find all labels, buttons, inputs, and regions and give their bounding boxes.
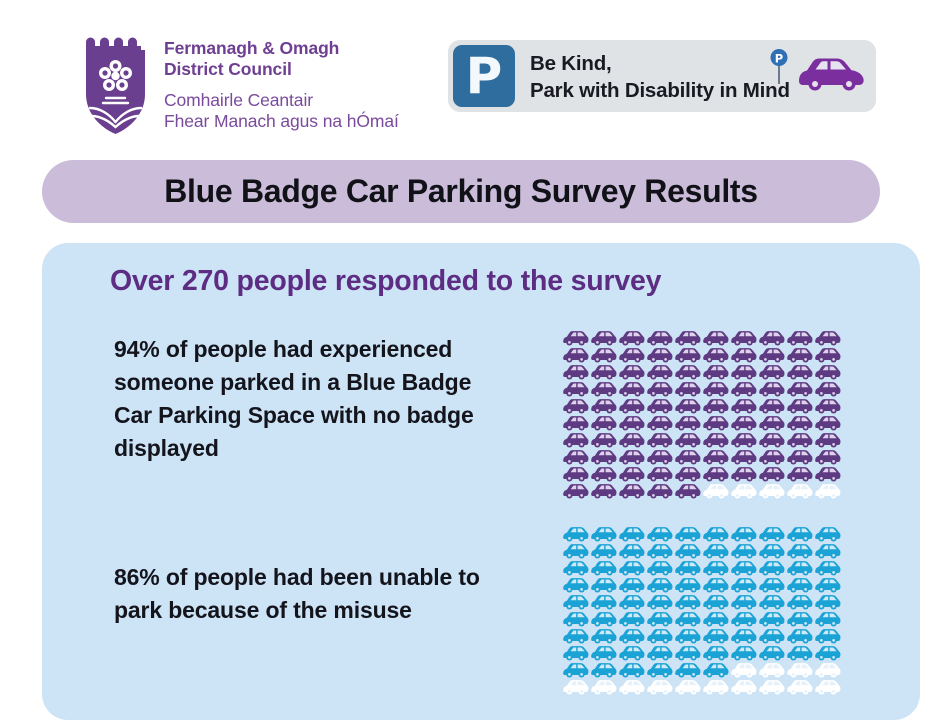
car-icon-filled	[813, 525, 841, 542]
car-icon	[645, 661, 673, 678]
car-icon	[617, 559, 645, 576]
car-icon	[813, 678, 841, 695]
car-icon	[617, 644, 645, 661]
car-icon-filled	[785, 346, 813, 363]
car-icon-filled	[645, 329, 673, 346]
car-icon	[589, 542, 617, 559]
car-icon	[785, 644, 813, 661]
car-icon	[561, 431, 589, 448]
car-icon	[813, 610, 841, 627]
car-icon	[673, 431, 701, 448]
car-icon-filled	[617, 644, 645, 661]
car-icon-filled	[757, 644, 785, 661]
car-icon-filled	[673, 644, 701, 661]
car-icon-filled	[617, 482, 645, 499]
car-icon-filled	[589, 482, 617, 499]
car-icon	[589, 610, 617, 627]
car-icon	[617, 610, 645, 627]
car-icon-filled	[813, 431, 841, 448]
car-icon	[673, 465, 701, 482]
car-icon-filled	[561, 661, 589, 678]
car-icon-filled	[673, 397, 701, 414]
car-icon-filled	[813, 542, 841, 559]
car-icon-filled	[813, 593, 841, 610]
car-icon-filled	[813, 627, 841, 644]
car-icon	[701, 380, 729, 397]
car-icon-empty	[729, 678, 757, 695]
car-icon	[617, 363, 645, 380]
car-icon-empty	[785, 482, 813, 499]
car-icon	[673, 329, 701, 346]
car-icon	[561, 678, 589, 695]
council-logo-text: Fermanagh & Omagh District Council Comha…	[164, 32, 399, 132]
car-icon-filled	[589, 559, 617, 576]
car-icon-empty	[729, 482, 757, 499]
car-icon	[729, 678, 757, 695]
car-icon-filled	[785, 448, 813, 465]
car-icon-filled	[617, 448, 645, 465]
car-icon-filled	[617, 559, 645, 576]
car-icon	[785, 397, 813, 414]
car-icon	[645, 678, 673, 695]
car-icon	[701, 644, 729, 661]
car-icon-filled	[645, 661, 673, 678]
car-icon-filled	[813, 397, 841, 414]
car-icon	[813, 593, 841, 610]
car-icon	[645, 559, 673, 576]
car-icon	[785, 627, 813, 644]
car-icon-empty	[813, 661, 841, 678]
car-icon-empty	[589, 678, 617, 695]
car-icon	[617, 465, 645, 482]
car-icon	[617, 380, 645, 397]
car-icon-filled	[673, 329, 701, 346]
car-icon-filled	[813, 465, 841, 482]
car-icon-filled	[729, 610, 757, 627]
car-icon-filled	[757, 593, 785, 610]
car-icon-filled	[701, 414, 729, 431]
car-icon	[701, 397, 729, 414]
car-icon	[701, 414, 729, 431]
car-icon	[673, 576, 701, 593]
logo-spacer	[164, 81, 399, 90]
logo-line-ga-1: Comhairle Ceantair	[164, 90, 399, 111]
parking-p-letter: P	[466, 51, 503, 101]
car-icon-filled	[729, 363, 757, 380]
car-icon-filled	[617, 397, 645, 414]
car-icon-filled	[673, 465, 701, 482]
car-icon-filled	[561, 525, 589, 542]
car-icon	[813, 346, 841, 363]
car-icon-filled	[561, 380, 589, 397]
car-icon-filled	[785, 431, 813, 448]
car-icon-filled	[589, 576, 617, 593]
car-icon	[701, 465, 729, 482]
car-icon-empty	[701, 482, 729, 499]
car-icon	[645, 448, 673, 465]
car-icon-filled	[645, 593, 673, 610]
car-icon-empty	[757, 678, 785, 695]
car-icon-filled	[813, 559, 841, 576]
car-icon-filled	[785, 397, 813, 414]
car-icon	[813, 329, 841, 346]
car-icon-filled	[729, 448, 757, 465]
car-icon	[701, 363, 729, 380]
car-icon	[729, 397, 757, 414]
car-icon-filled	[645, 525, 673, 542]
car-icon-filled	[701, 610, 729, 627]
car-icon	[757, 482, 785, 499]
stat-1-text: 94% of people had experienced someone pa…	[114, 333, 514, 465]
car-icon	[729, 431, 757, 448]
car-icon	[589, 576, 617, 593]
car-icon-filled	[589, 644, 617, 661]
car-icon	[785, 431, 813, 448]
car-icon-filled	[813, 644, 841, 661]
car-icon	[645, 465, 673, 482]
car-icon	[785, 525, 813, 542]
car-icon-filled	[785, 559, 813, 576]
car-icon-filled	[617, 414, 645, 431]
car-icon	[729, 525, 757, 542]
car-icon	[813, 431, 841, 448]
car-icon-empty	[645, 678, 673, 695]
car-icon	[561, 593, 589, 610]
car-icon-filled	[589, 610, 617, 627]
council-logo: Fermanagh & Omagh District Council Comha…	[82, 32, 399, 136]
car-icon	[645, 610, 673, 627]
car-icon-filled	[673, 363, 701, 380]
car-icon-filled	[757, 576, 785, 593]
car-icon	[561, 414, 589, 431]
car-icon	[645, 482, 673, 499]
car-icon-filled	[561, 627, 589, 644]
car-icon-filled	[701, 644, 729, 661]
car-icon-filled	[617, 431, 645, 448]
car-icon	[813, 627, 841, 644]
car-icon-filled	[589, 661, 617, 678]
car-icon-filled	[589, 363, 617, 380]
car-icon	[757, 559, 785, 576]
car-icon	[757, 644, 785, 661]
car-icon-empty	[813, 482, 841, 499]
car-icon	[757, 465, 785, 482]
car-icon-filled	[561, 431, 589, 448]
car-icon-filled	[645, 542, 673, 559]
car-icon	[561, 542, 589, 559]
car-icon	[701, 559, 729, 576]
car-icon-filled	[561, 397, 589, 414]
car-icon-filled	[785, 644, 813, 661]
results-card: Over 270 people responded to the survey …	[42, 243, 920, 720]
car-icon	[785, 593, 813, 610]
car-icon	[673, 482, 701, 499]
car-icon	[729, 661, 757, 678]
survey-subtitle: Over 270 people responded to the survey	[110, 265, 661, 298]
car-icon	[561, 363, 589, 380]
car-icon	[729, 329, 757, 346]
car-icon-filled	[645, 346, 673, 363]
car-icon	[645, 627, 673, 644]
car-icon-filled	[785, 593, 813, 610]
car-icon-filled	[589, 414, 617, 431]
car-icon	[589, 661, 617, 678]
car-icon	[729, 482, 757, 499]
car-icon	[701, 678, 729, 695]
car-icon	[701, 576, 729, 593]
car-icon	[589, 482, 617, 499]
car-icon-filled	[813, 610, 841, 627]
page-title-banner: Blue Badge Car Parking Survey Results	[42, 160, 880, 223]
car-icon	[813, 525, 841, 542]
car-icon	[757, 627, 785, 644]
car-icon	[673, 610, 701, 627]
car-icon	[617, 525, 645, 542]
car-icon	[701, 593, 729, 610]
car-icon-filled	[673, 525, 701, 542]
car-icon	[561, 644, 589, 661]
car-icon	[813, 559, 841, 576]
car-icon	[729, 610, 757, 627]
car-icon-filled	[729, 380, 757, 397]
car-icon-filled	[813, 576, 841, 593]
car-icon-filled	[561, 559, 589, 576]
car-icon-filled	[617, 593, 645, 610]
car-icon-filled	[673, 448, 701, 465]
car-icon	[813, 363, 841, 380]
car-icon-filled	[813, 448, 841, 465]
car-icon	[757, 593, 785, 610]
car-icon	[729, 559, 757, 576]
car-icon	[589, 559, 617, 576]
car-icon	[757, 346, 785, 363]
purple-car-icon	[799, 59, 864, 91]
car-icon-filled	[561, 329, 589, 346]
car-icon-filled	[729, 644, 757, 661]
car-icon	[785, 465, 813, 482]
car-icon-filled	[701, 559, 729, 576]
car-icon-filled	[813, 363, 841, 380]
car-icon	[785, 542, 813, 559]
car-icon	[645, 593, 673, 610]
car-icon	[561, 465, 589, 482]
car-icon	[561, 576, 589, 593]
car-icon-filled	[645, 610, 673, 627]
car-icon-filled	[645, 465, 673, 482]
car-icon	[813, 414, 841, 431]
campaign-slogan-line2: Park with Disability in Mind	[530, 78, 790, 105]
car-icon	[673, 448, 701, 465]
car-icon-filled	[785, 610, 813, 627]
car-icon	[701, 346, 729, 363]
car-icon-filled	[645, 431, 673, 448]
car-icon-filled	[701, 627, 729, 644]
car-icon-filled	[757, 329, 785, 346]
car-icon	[589, 465, 617, 482]
page-header: Fermanagh & Omagh District Council Comha…	[0, 0, 940, 148]
car-icon-filled	[785, 627, 813, 644]
car-icon-filled	[757, 610, 785, 627]
car-icon	[673, 346, 701, 363]
car-icon-filled	[561, 593, 589, 610]
car-icon	[589, 414, 617, 431]
car-icon	[701, 482, 729, 499]
page-title: Blue Badge Car Parking Survey Results	[164, 173, 758, 210]
car-icon-filled	[729, 576, 757, 593]
car-icon-filled	[701, 542, 729, 559]
car-icon-filled	[561, 482, 589, 499]
car-icon-filled	[701, 593, 729, 610]
car-icon	[617, 414, 645, 431]
car-icon-empty	[785, 661, 813, 678]
car-icon-filled	[645, 644, 673, 661]
car-icon	[589, 431, 617, 448]
car-icon-filled	[813, 380, 841, 397]
car-icon-empty	[729, 661, 757, 678]
car-icon-filled	[729, 525, 757, 542]
car-icon-filled	[701, 661, 729, 678]
car-icon	[673, 414, 701, 431]
car-icon	[673, 397, 701, 414]
car-icon	[813, 576, 841, 593]
car-icon	[645, 414, 673, 431]
car-icon	[617, 678, 645, 695]
car-icon	[785, 678, 813, 695]
car-icon-filled	[729, 627, 757, 644]
car-icon-empty	[673, 678, 701, 695]
car-icon-filled	[757, 431, 785, 448]
car-icon	[673, 542, 701, 559]
council-crest-icon	[82, 32, 150, 136]
car-icon	[813, 644, 841, 661]
car-icon	[813, 542, 841, 559]
car-icon-filled	[673, 431, 701, 448]
car-icon-filled	[729, 542, 757, 559]
car-icon-filled	[785, 576, 813, 593]
car-icon	[589, 363, 617, 380]
car-icon	[757, 431, 785, 448]
car-icon	[729, 380, 757, 397]
car-icon	[645, 363, 673, 380]
car-icon-filled	[757, 465, 785, 482]
car-icon-filled	[589, 525, 617, 542]
car-icon-filled	[701, 397, 729, 414]
car-icon	[729, 465, 757, 482]
car-icon	[701, 661, 729, 678]
car-icon	[617, 576, 645, 593]
car-icon	[673, 644, 701, 661]
car-icon	[673, 678, 701, 695]
car-icon-filled	[617, 329, 645, 346]
car-icon	[701, 542, 729, 559]
car-icon	[757, 397, 785, 414]
car-icon-filled	[701, 363, 729, 380]
car-icon-filled	[589, 542, 617, 559]
car-icon-filled	[813, 346, 841, 363]
car-icon	[645, 431, 673, 448]
car-icon	[813, 482, 841, 499]
car-icon-filled	[757, 559, 785, 576]
car-icon-filled	[785, 380, 813, 397]
logo-line-en-2: District Council	[164, 59, 399, 80]
car-icon-empty	[757, 661, 785, 678]
car-icon	[561, 559, 589, 576]
car-icon	[729, 448, 757, 465]
car-icon-filled	[729, 559, 757, 576]
car-icon-filled	[757, 397, 785, 414]
car-icon-filled	[673, 346, 701, 363]
car-icon	[645, 329, 673, 346]
car-icon-empty	[617, 678, 645, 695]
car-icon	[757, 525, 785, 542]
car-icon-filled	[701, 576, 729, 593]
car-icon-filled	[729, 346, 757, 363]
car-icon-filled	[645, 627, 673, 644]
car-icon-filled	[701, 465, 729, 482]
car-icon-filled	[673, 627, 701, 644]
car-icon	[589, 644, 617, 661]
car-icon-filled	[645, 559, 673, 576]
car-icon-filled	[561, 576, 589, 593]
car-icon	[757, 380, 785, 397]
car-icon	[617, 346, 645, 363]
car-icon-filled	[673, 559, 701, 576]
car-icon-filled	[589, 593, 617, 610]
car-icon-filled	[785, 542, 813, 559]
car-icon-filled	[729, 397, 757, 414]
car-icon-filled	[645, 576, 673, 593]
car-icon	[617, 482, 645, 499]
car-icon-filled	[645, 397, 673, 414]
car-icon-filled	[785, 525, 813, 542]
car-icon	[813, 661, 841, 678]
car-icon	[757, 448, 785, 465]
car-icon	[561, 661, 589, 678]
car-icon	[813, 397, 841, 414]
car-icon-filled	[561, 542, 589, 559]
car-icon-filled	[757, 448, 785, 465]
car-icon	[813, 465, 841, 482]
car-icon	[785, 414, 813, 431]
car-icon	[785, 363, 813, 380]
car-icon	[729, 414, 757, 431]
car-icon-filled	[617, 542, 645, 559]
car-icon	[729, 644, 757, 661]
car-icon-filled	[701, 346, 729, 363]
car-icon-filled	[785, 414, 813, 431]
car-icon	[729, 627, 757, 644]
logo-line-ga-2: Fhear Manach agus na hÓmaí	[164, 111, 399, 132]
car-icon-filled	[813, 414, 841, 431]
car-icon	[673, 525, 701, 542]
svg-text:P: P	[775, 52, 783, 66]
car-icon-filled	[673, 610, 701, 627]
car-icon	[729, 576, 757, 593]
car-icon-filled	[729, 329, 757, 346]
car-icon	[785, 610, 813, 627]
car-icon-filled	[589, 346, 617, 363]
car-icon	[701, 431, 729, 448]
car-icon-filled	[673, 593, 701, 610]
car-icon-filled	[561, 465, 589, 482]
car-icon	[617, 448, 645, 465]
car-icon	[561, 448, 589, 465]
car-icon-filled	[589, 627, 617, 644]
car-icon	[785, 482, 813, 499]
parking-sign-icon: P	[771, 49, 788, 84]
car-icon-filled	[617, 627, 645, 644]
car-icon	[785, 576, 813, 593]
